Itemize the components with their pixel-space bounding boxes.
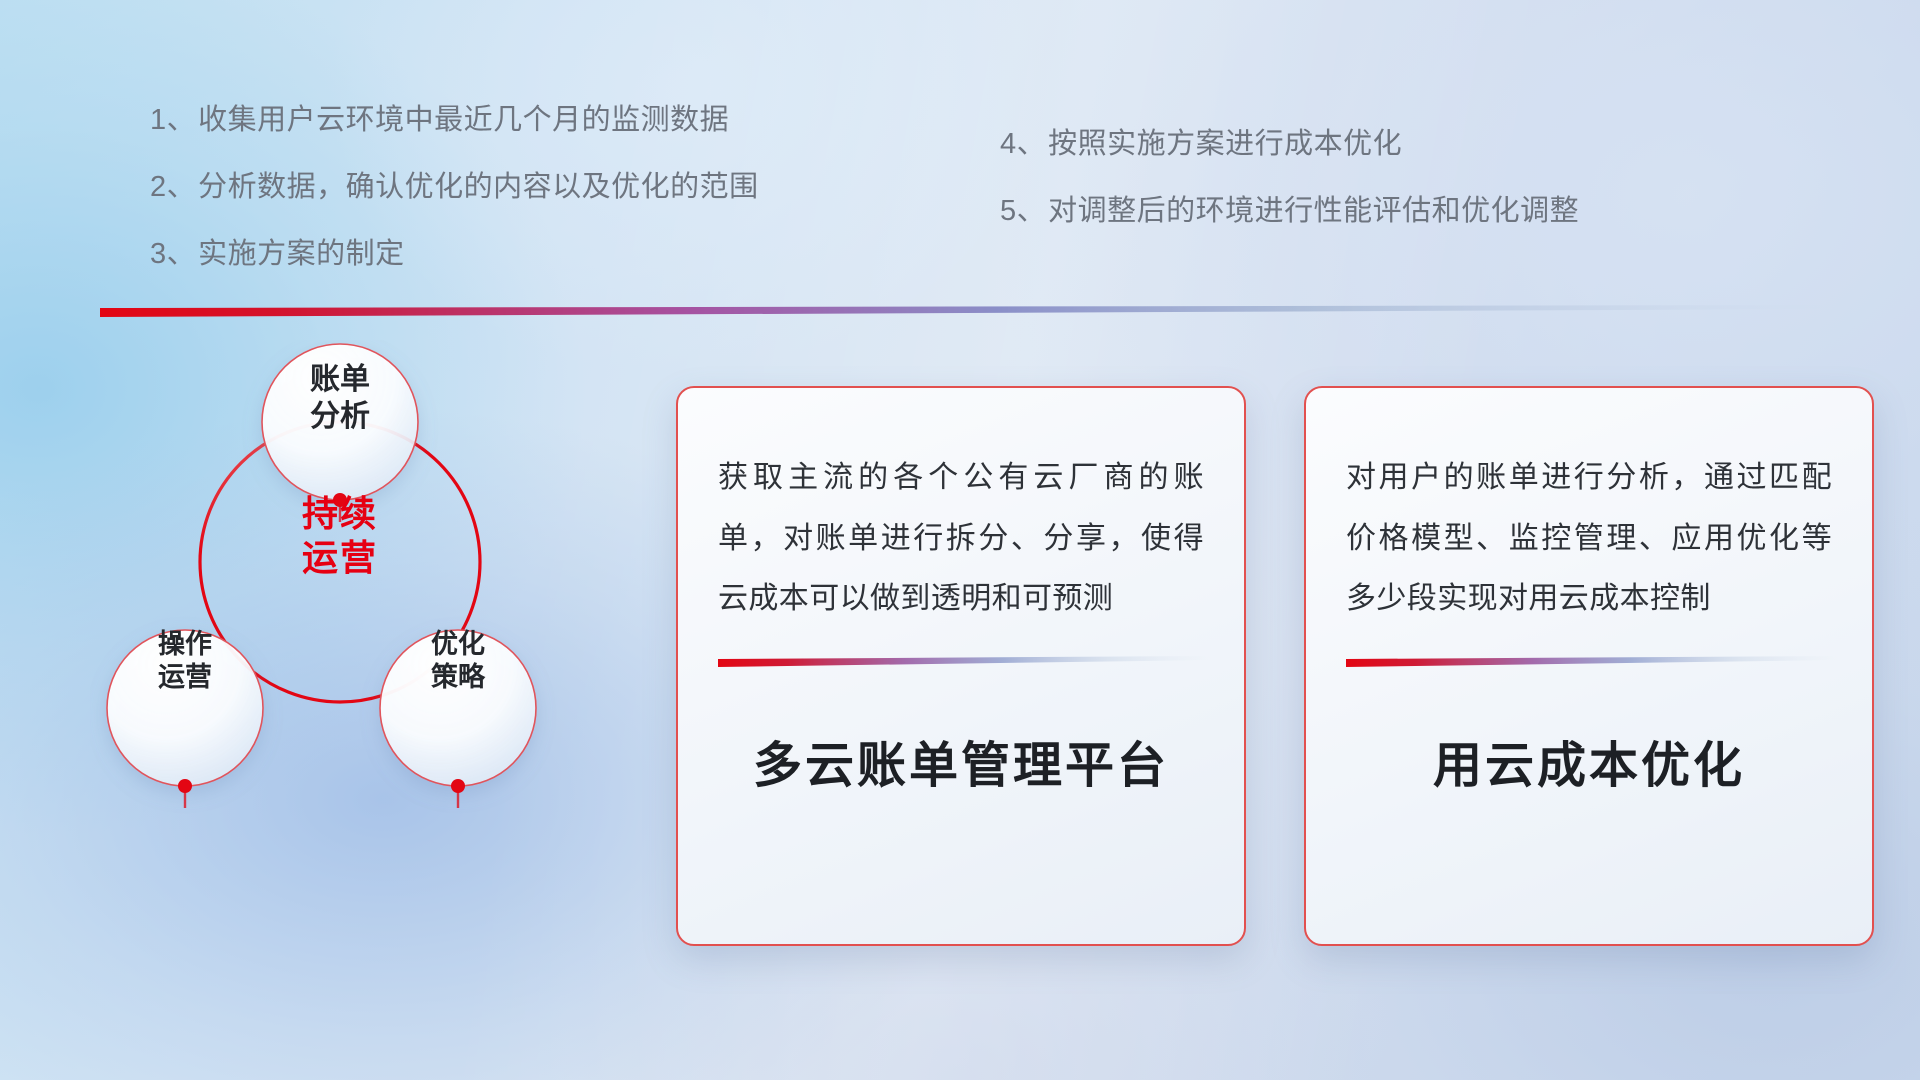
- connector-dot-bottom-right: [451, 779, 465, 793]
- connector-dot-top: [333, 493, 347, 507]
- connector-dot-bottom-left: [178, 779, 192, 793]
- step-item-2: 2、 分析数据，确认优化的内容以及优化的范围: [150, 163, 759, 205]
- continuous-operation-diagram: 账单 分析 操作 运营 优化 策略 持续 运营: [90, 340, 600, 820]
- steps-section: 1、 收集用户云环境中最近几个月的监测数据 2、 分析数据，确认优化的内容以及优…: [0, 0, 1920, 300]
- card-cloud-cost-optimization[interactable]: 对用户的账单进行分析，通过匹配价格模型、监控管理、应用优化等多少段实现对用云成本…: [1304, 386, 1874, 946]
- card-body-text: 获取主流的各个公有云厂商的账单，对账单进行拆分、分享，使得云成本可以做到透明和可…: [718, 448, 1204, 630]
- diagram-svg: [90, 340, 600, 820]
- step-item-4: 4、 按照实施方案进行成本优化: [1000, 120, 1579, 162]
- card-divider: [718, 656, 1210, 670]
- node-bubble-top: [262, 344, 418, 500]
- cards-row: 获取主流的各个公有云厂商的账单，对账单进行拆分、分享，使得云成本可以做到透明和可…: [676, 386, 1874, 946]
- card-body-text: 对用户的账单进行分析，通过匹配价格模型、监控管理、应用优化等多少段实现对用云成本…: [1346, 448, 1832, 630]
- step-item-3: 3、 实施方案的制定: [150, 230, 759, 272]
- step-item-1: 1、 收集用户云环境中最近几个月的监测数据: [150, 96, 759, 138]
- step-number-4: 4、: [1000, 120, 1046, 162]
- step-number-2: 2、: [150, 163, 196, 205]
- step-number-1: 1、: [150, 96, 196, 138]
- card-divider: [1346, 656, 1838, 670]
- card-multicloud-billing[interactable]: 获取主流的各个公有云厂商的账单，对账单进行拆分、分享，使得云成本可以做到透明和可…: [676, 386, 1246, 946]
- card-title: 用云成本优化: [1346, 726, 1832, 797]
- step-text-1: 收集用户云环境中最近几个月的监测数据: [198, 96, 729, 138]
- step-number-3: 3、: [150, 230, 196, 272]
- step-text-5: 对调整后的环境进行性能评估和优化调整: [1048, 187, 1579, 229]
- node-bubble-bottom-left: [107, 630, 263, 786]
- step-text-3: 实施方案的制定: [198, 230, 405, 272]
- step-text-2: 分析数据，确认优化的内容以及优化的范围: [198, 163, 759, 205]
- section-divider: [100, 304, 1830, 320]
- node-bubble-bottom-right: [380, 630, 536, 786]
- steps-left-column: 1、 收集用户云环境中最近几个月的监测数据 2、 分析数据，确认优化的内容以及优…: [150, 96, 759, 297]
- step-text-4: 按照实施方案进行成本优化: [1048, 120, 1402, 162]
- card-title: 多云账单管理平台: [718, 726, 1204, 797]
- steps-right-column: 4、 按照实施方案进行成本优化 5、 对调整后的环境进行性能评估和优化调整: [1000, 120, 1579, 254]
- step-item-5: 5、 对调整后的环境进行性能评估和优化调整: [1000, 187, 1579, 229]
- step-number-5: 5、: [1000, 187, 1046, 229]
